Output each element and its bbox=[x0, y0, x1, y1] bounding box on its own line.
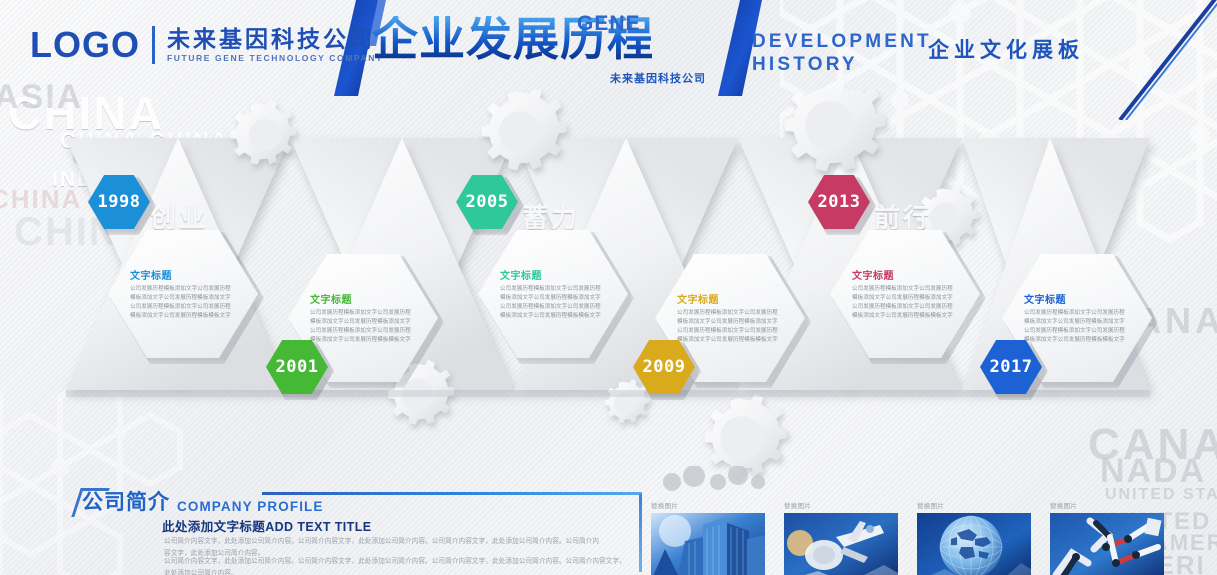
profile-heading-en: COMPANY PROFILE bbox=[177, 499, 324, 516]
photo-slot-1[interactable]: 替换图片 bbox=[651, 500, 765, 575]
photo-image-city[interactable] bbox=[651, 513, 765, 575]
profile-heading-cn: 公司简介 bbox=[82, 486, 170, 516]
milestone-card-content: 文字标题 公司发展历程模板添加文字公司发展历程模板添加文字公司发展历程模板添加文… bbox=[108, 230, 258, 358]
photo-slot-3[interactable]: 替换图片 bbox=[917, 500, 1031, 575]
profile-vertical-line bbox=[639, 494, 642, 572]
photo-label: 替换图片 bbox=[784, 500, 898, 510]
title-gene-label: GENE bbox=[577, 12, 641, 36]
subtitle-line-1: DEVELOPMENT bbox=[752, 30, 932, 53]
milestone-body: 公司发展历程模板添加文字公司发展历程模板添加文字公司发展历程模板添加文字公司发展… bbox=[1024, 309, 1130, 345]
profile-divider-line bbox=[262, 492, 642, 495]
milestone-title: 文字标题 bbox=[1024, 291, 1130, 306]
logo-divider bbox=[152, 26, 155, 64]
poster-title-block: 企业发展历程 GENE 未来基因科技公司 bbox=[372, 16, 712, 88]
milestone-title: 文字标题 bbox=[310, 291, 416, 306]
decorative-gear-dots bbox=[660, 466, 780, 496]
header-subtitle-en: DEVELOPMENT HISTORY bbox=[752, 30, 932, 76]
logo-lockup[interactable]: LOGO 未来基因科技公司 FUTURE GENE TECHNOLOGY COM… bbox=[30, 24, 383, 66]
title-subtitle-cn: 未来基因科技公司 bbox=[610, 70, 706, 86]
logo-text: LOGO bbox=[30, 24, 140, 66]
milestone-card-content: 文字标题 公司发展历程模板添加文字公司发展历程模板添加文字公司发展历程模板添加文… bbox=[478, 230, 628, 358]
photo-label: 替换图片 bbox=[917, 500, 1031, 510]
subtitle-line-2: HISTORY bbox=[752, 53, 932, 76]
company-profile-section: 公司简介 COMPANY PROFILE 此处添加文字标题ADD TEXT TI… bbox=[76, 486, 628, 574]
page-title: 企业发展历程 bbox=[372, 16, 712, 62]
milestone-title: 文字标题 bbox=[852, 267, 958, 282]
photo-image-airplane[interactable] bbox=[784, 513, 898, 575]
profile-paragraph-2: 公司简介内容文字，此处添加公司简介内容。公司简介内容文字，此处添加公司简介内容。… bbox=[164, 556, 626, 575]
milestone-card-content: 文字标题 公司发展历程模板添加文字公司发展历程模板添加文字公司发展历程模板添加文… bbox=[830, 230, 980, 358]
company-name-cn: 未来基因科技公司 bbox=[167, 27, 383, 51]
milestone-title: 文字标题 bbox=[677, 291, 783, 306]
milestone-body: 公司发展历程模板添加文字公司发展历程模板添加文字公司发展历程模板添加文字公司发展… bbox=[677, 309, 783, 345]
photo-slot-2[interactable]: 替换图片 bbox=[784, 500, 898, 575]
header-subtitle-cn: 企业文化展板 bbox=[928, 34, 1084, 64]
poster-header: LOGO 未来基因科技公司 FUTURE GENE TECHNOLOGY COM… bbox=[0, 0, 1217, 96]
profile-subtitle: 此处添加文字标题ADD TEXT TITLE bbox=[162, 516, 372, 535]
milestone-body: 公司发展历程模板添加文字公司发展历程模板添加文字公司发展历程模板添加文字公司发展… bbox=[310, 309, 416, 345]
milestone-body: 公司发展历程模板添加文字公司发展历程模板添加文字公司发展历程模板添加文字公司发展… bbox=[130, 285, 236, 321]
photo-label: 替换图片 bbox=[651, 500, 765, 510]
photo-image-robot[interactable] bbox=[1050, 513, 1164, 575]
photo-label: 替换图片 bbox=[1050, 500, 1164, 510]
photo-image-globe[interactable] bbox=[917, 513, 1031, 575]
milestone-title: 文字标题 bbox=[130, 267, 236, 282]
company-name-en: FUTURE GENE TECHNOLOGY COMPANY bbox=[167, 54, 383, 63]
milestone-title: 文字标题 bbox=[500, 267, 606, 282]
poster-canvas: CHINA ASIA CHINA-CHINA CHINA-CHINA INDIA… bbox=[0, 0, 1217, 575]
milestone-body: 公司发展历程模板添加文字公司发展历程模板添加文字公司发展历程模板添加文字公司发展… bbox=[852, 285, 958, 321]
photo-slot-4[interactable]: 替换图片 bbox=[1050, 500, 1164, 575]
profile-heading: 公司简介 COMPANY PROFILE bbox=[82, 486, 324, 516]
milestone-body: 公司发展历程模板添加文字公司发展历程模板添加文字公司发展历程模板添加文字公司发展… bbox=[500, 285, 606, 321]
